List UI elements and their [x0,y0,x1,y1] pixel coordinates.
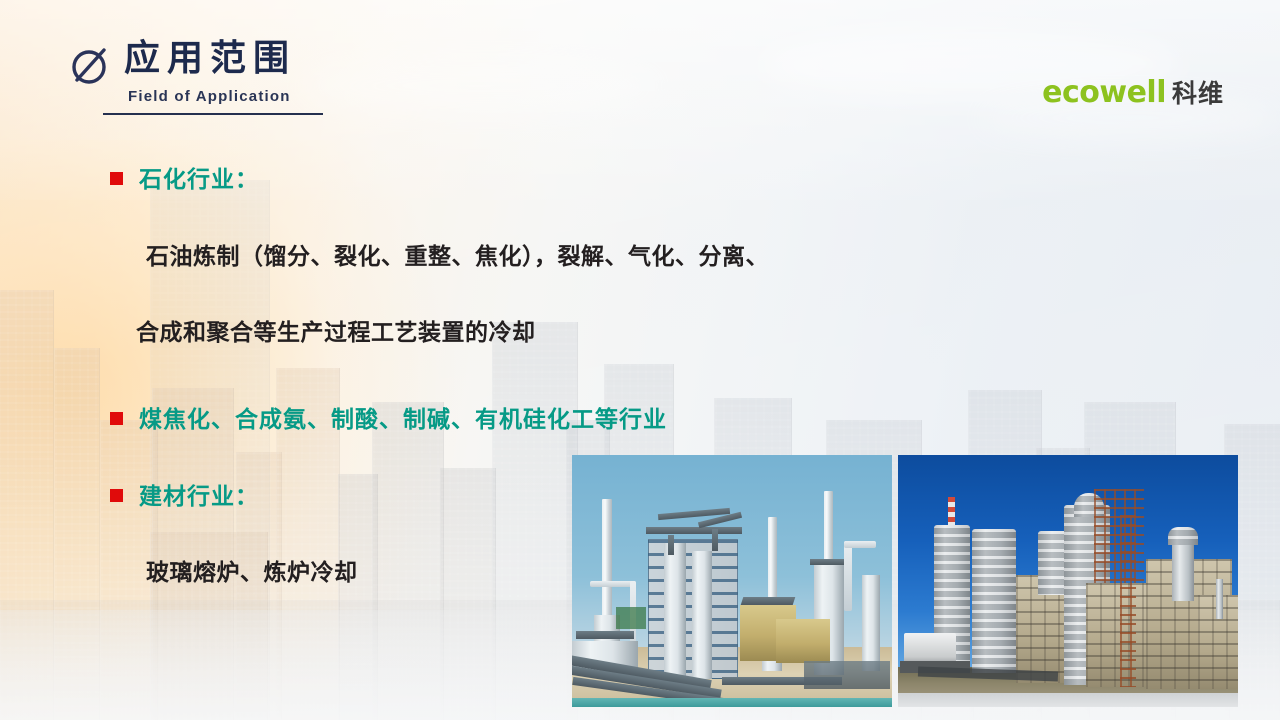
cement-plant-photo [898,455,1238,707]
section-body-building-materials: 玻璃熔炉、炼炉冷却 [146,553,358,587]
slide-canvas: 应用范围 Field of Application ecowell 科维 石化行… [0,0,1280,720]
list-item: 合成和聚合等生产过程工艺装置的冷却 [136,313,536,347]
section-body-petrochemical-line1: 石油炼制（馏分、裂化、重整、焦化），裂解、气化、分离、 [146,237,769,271]
square-bullet-icon [110,172,123,185]
square-bullet-icon [110,489,123,502]
list-item: 煤焦化、合成氨、制酸、制碱、有机硅化工等行业 [110,400,667,434]
petrochemical-refinery-photo [572,455,892,707]
list-item: 石油炼制（馏分、裂化、重整、焦化），裂解、气化、分离、 [146,237,769,271]
square-bullet-icon [110,412,123,425]
section-body-petrochemical-line2: 合成和聚合等生产过程工艺装置的冷却 [136,313,536,347]
list-item: 建材行业： [110,477,259,511]
section-heading-building-materials: 建材行业： [139,477,259,511]
list-item: 玻璃熔炉、炼炉冷却 [146,553,358,587]
section-heading-petrochemical: 石化行业： [139,160,259,194]
section-heading-coking-chemical: 煤焦化、合成氨、制酸、制碱、有机硅化工等行业 [139,400,667,434]
list-item: 石化行业： [110,160,259,194]
